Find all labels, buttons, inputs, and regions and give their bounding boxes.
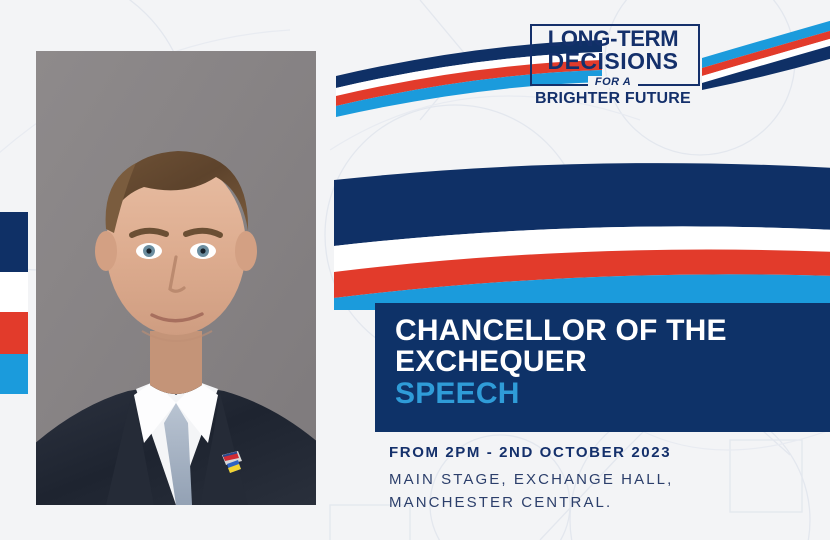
event-venue: MAIN STAGE, EXCHANGE HALL, MANCHESTER CE… <box>389 468 809 514</box>
campaign-logo: LONG-TERM DECISIONS FOR A BRIGHTER FUTUR… <box>524 24 702 112</box>
event-title: CHANCELLOR OF THE EXCHEQUER SPEECH <box>395 315 815 411</box>
ribbon-right-top <box>700 10 830 90</box>
title-line-2: EXCHEQUER <box>395 345 587 378</box>
event-details: FROM 2PM - 2ND OCTOBER 2023 MAIN STAGE, … <box>389 442 809 514</box>
event-time: FROM 2PM - 2ND OCTOBER 2023 <box>389 442 809 464</box>
logo-line-2: DECISIONS <box>524 50 702 73</box>
logo-line-3: BRIGHTER FUTURE <box>524 90 702 108</box>
title-panel: CHANCELLOR OF THE EXCHEQUER SPEECH <box>375 303 830 432</box>
ribbon-left <box>0 212 28 394</box>
venue-line-1: MAIN STAGE, EXCHANGE HALL, <box>389 468 809 491</box>
ribbon-main <box>330 160 830 310</box>
title-highlight: SPEECH <box>395 377 815 411</box>
poster-canvas: LONG-TERM DECISIONS FOR A BRIGHTER FUTUR… <box>0 0 830 540</box>
title-line-1: CHANCELLOR OF THE <box>395 314 727 347</box>
logo-connector-text: FOR A <box>588 76 638 88</box>
logo-connector: FOR A <box>524 76 702 88</box>
portrait-photo <box>36 51 316 505</box>
logo-line-1: LONG-TERM <box>524 28 702 50</box>
venue-line-2: MANCHESTER CENTRAL. <box>389 491 809 514</box>
